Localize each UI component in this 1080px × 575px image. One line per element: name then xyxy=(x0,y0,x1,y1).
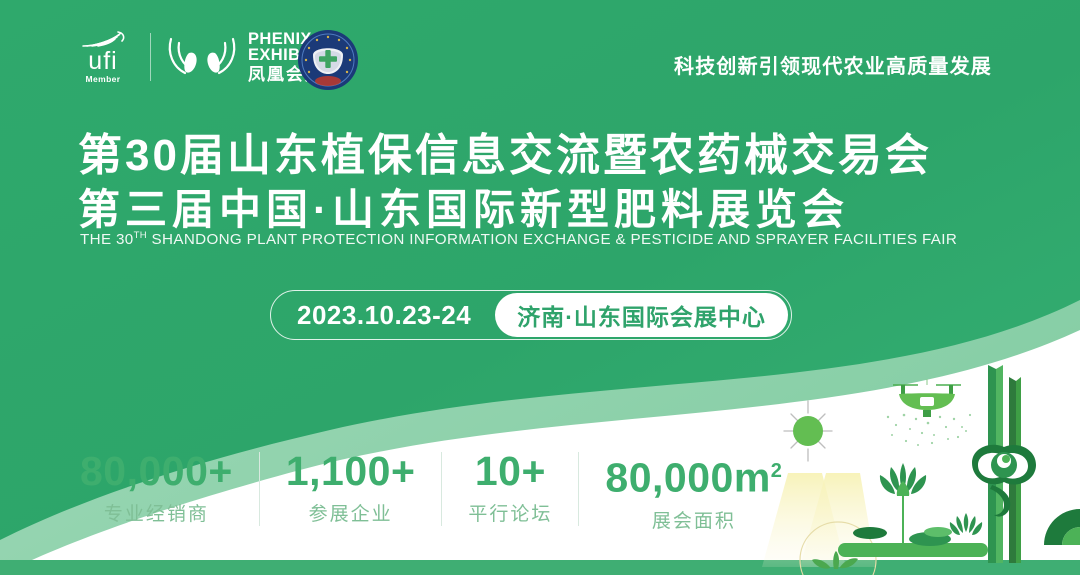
ground-strip-icon xyxy=(838,543,988,557)
rainbow-arc-icon xyxy=(1044,509,1080,545)
stat-number: 80,000m2 xyxy=(605,448,782,501)
ufi-member-label: Member xyxy=(86,74,121,84)
stats-row: 80,000+ 专业经销商 1,100+ 参展企业 10+ 平行论坛 80,00… xyxy=(80,448,808,533)
sun-icon xyxy=(784,401,832,461)
ufi-swoosh-icon xyxy=(80,31,126,49)
event-slogan: 科技创新引领现代农业高质量发展 xyxy=(674,50,992,79)
ufi-wordmark: ufi xyxy=(88,50,117,72)
lily-pad xyxy=(853,527,887,539)
english-subtitle: THE 30TH SHANDONG PLANT PROTECTION INFOR… xyxy=(80,230,957,248)
logo-divider xyxy=(150,33,151,81)
subtitle-post: SHANDONG PLANT PROTECTION INFORMATION EX… xyxy=(147,231,957,248)
stat-item: 10+ 平行论坛 xyxy=(442,448,578,526)
stat-item: 1,100+ 参展企业 xyxy=(260,448,442,526)
association-emblem-icon xyxy=(297,29,359,91)
event-poster: ufi Member PHENIX EXHIBITION 凤 xyxy=(0,0,1080,575)
lotus-flower-icon xyxy=(950,513,982,535)
date-venue-pill: 2023.10.23-24 济南·山东国际会展中心 xyxy=(270,290,792,340)
spray-particles xyxy=(887,414,971,446)
phenix-birds-icon xyxy=(165,33,239,81)
stat-label: 平行论坛 xyxy=(468,499,552,526)
jinan-tower-icon xyxy=(972,365,1036,563)
stat-label: 专业经销商 xyxy=(104,499,209,526)
stat-label: 展会面积 xyxy=(652,506,736,533)
stat-number-text: 80,000m xyxy=(605,455,770,501)
stat-number-text: 10+ xyxy=(475,448,546,494)
ufi-logo: ufi Member xyxy=(70,31,136,84)
stat-number: 80,000+ xyxy=(80,448,233,494)
title-line-1: 第30届山东植保信息交流暨农药械交易会 xyxy=(78,119,932,183)
stat-number: 10+ xyxy=(475,448,546,494)
spraying-drone-icon xyxy=(887,379,971,446)
subtitle-pre: THE 30 xyxy=(80,231,134,248)
stat-number-text: 80,000+ xyxy=(80,448,233,494)
lily-pad xyxy=(924,527,952,537)
event-venue: 济南·山东国际会展中心 xyxy=(495,293,788,337)
stat-number-text: 1,100+ xyxy=(286,448,416,494)
agriculture-illustration xyxy=(760,355,1080,575)
stat-item: 80,000+ 专业经销商 xyxy=(80,448,259,526)
stat-label: 参展企业 xyxy=(309,499,393,526)
subtitle-ordinal: TH xyxy=(134,230,147,241)
title-line-2: 第三届中国·山东国际新型肥料展览会 xyxy=(78,176,849,237)
event-date: 2023.10.23-24 xyxy=(297,300,495,331)
stat-number: 1,100+ xyxy=(286,448,416,494)
